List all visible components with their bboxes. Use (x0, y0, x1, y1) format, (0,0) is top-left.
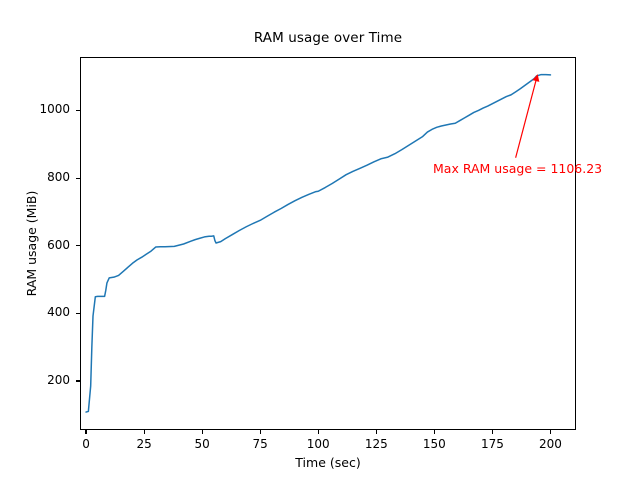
y-tick-label: 1000 (24, 102, 70, 116)
x-tick-mark (318, 430, 319, 434)
y-tick-label: 800 (24, 170, 70, 184)
y-tick-mark (76, 380, 80, 381)
y-tick-mark (76, 178, 80, 179)
x-tick-mark (260, 430, 261, 434)
x-tick-label: 175 (467, 437, 517, 451)
x-tick-label: 100 (293, 437, 343, 451)
x-tick-mark (434, 430, 435, 434)
x-tick-label: 150 (409, 437, 459, 451)
y-tick-mark (76, 313, 80, 314)
x-tick-label: 50 (177, 437, 227, 451)
x-tick-mark (85, 430, 86, 434)
x-tick-mark (550, 430, 551, 434)
chart-title: RAM usage over Time (80, 30, 576, 46)
y-tick-label: 600 (24, 238, 70, 252)
x-tick-label: 125 (351, 437, 401, 451)
x-tick-mark (202, 430, 203, 434)
y-tick-label: 400 (24, 305, 70, 319)
x-tick-label: 25 (119, 437, 169, 451)
y-tick-mark (76, 245, 80, 246)
x-tick-label: 0 (61, 437, 111, 451)
y-tick-mark (76, 110, 80, 111)
x-tick-mark (144, 430, 145, 434)
y-tick-label: 200 (24, 373, 70, 387)
matplotlib-figure: RAM usage over Time RAM usage (MiB) Time… (0, 0, 640, 480)
max-ram-annotation-label: Max RAM usage = 1106.23 (433, 161, 602, 176)
x-tick-label: 200 (525, 437, 575, 451)
x-tick-label: 75 (235, 437, 285, 451)
x-tick-mark (376, 430, 377, 434)
x-tick-mark (492, 430, 493, 434)
x-axis-label: Time (sec) (80, 455, 576, 470)
plot-axes-area (80, 57, 576, 430)
